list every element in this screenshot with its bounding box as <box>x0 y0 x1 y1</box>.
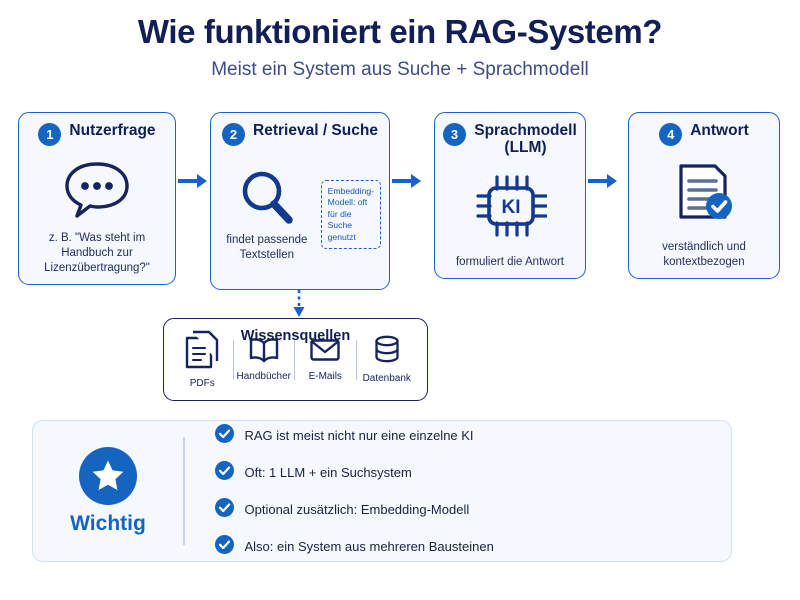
checklist-text: Also: ein System aus mehreren Bausteinen <box>245 539 494 554</box>
embedding-model-note: Embedding-Modell: oft für die Suche genu… <box>321 180 381 250</box>
magnifier-icon <box>236 167 298 229</box>
flow-step-sprachmodell[interactable]: 3 Sprachmodell (LLM) KI formuliert die <box>434 112 586 279</box>
documents-stack-icon <box>184 330 220 375</box>
source-label: Datenbank <box>363 373 411 384</box>
retrieval-icon-block: findet passende Textstellen <box>219 167 315 263</box>
step-description: formuliert die Antwort <box>456 255 564 270</box>
database-icon <box>372 335 402 370</box>
checklist-text: Optional zusätzlich: Embedding-Modell <box>245 502 470 517</box>
check-circle-icon <box>215 535 234 559</box>
page-header: Wie funktioniert ein RAG-System? Meist e… <box>0 0 800 81</box>
check-circle-icon <box>215 424 234 448</box>
step-title: Nutzerfrage <box>69 122 155 139</box>
step-number-badge: 1 <box>38 123 61 146</box>
step-description: z. B. "Was steht im Handbuch zur Lizenzü… <box>27 231 167 276</box>
step-description: verständlich und kontextbezogen <box>637 240 771 270</box>
flow-arrow-1 <box>178 172 208 195</box>
speech-bubble-icon <box>27 146 167 231</box>
checklist-item: RAG ist meist nicht nur eine einzelne KI <box>215 424 732 448</box>
step-number-badge: 4 <box>659 123 682 146</box>
chip-icon-label: KI <box>502 197 521 218</box>
step-header: 4 Antwort <box>637 122 771 146</box>
step-body: findet passende Textstellen Embedding-Mo… <box>219 148 381 281</box>
step-number-badge: 2 <box>222 123 245 146</box>
checklist-text: Oft: 1 LLM + ein Suchsystem <box>245 465 412 480</box>
flow-step-antwort[interactable]: 4 Antwort verständlich und kontextbezoge… <box>628 112 780 279</box>
source-item-datenbank[interactable]: Datenbank <box>357 325 418 394</box>
checklist-text: RAG ist meist nicht nur eine einzelne KI <box>245 428 474 443</box>
source-label: Handbücher <box>237 371 291 382</box>
important-badge-block: Wichtig <box>33 447 183 536</box>
step-header: 1 Nutzerfrage <box>27 122 167 146</box>
important-checklist: RAG ist meist nicht nur eine einzelne KI… <box>185 424 732 559</box>
checklist-item: Oft: 1 LLM + ein Suchsystem <box>215 461 732 485</box>
source-item-pdfs[interactable]: PDFs <box>172 325 233 394</box>
step-title: Retrieval / Suche <box>253 122 378 139</box>
flow-step-retrieval[interactable]: 2 Retrieval / Suche findet passende Text… <box>210 112 390 290</box>
check-circle-icon <box>215 461 234 485</box>
source-item-emails[interactable]: E-Mails <box>295 325 356 394</box>
step-header: 3 Sprachmodell (LLM) <box>443 122 577 157</box>
step-header: 2 Retrieval / Suche <box>219 122 381 146</box>
flow-arrow-3 <box>588 172 618 195</box>
source-item-handbuecher[interactable]: Handbücher <box>234 325 295 394</box>
step-title: Sprachmodell (LLM) <box>474 122 577 157</box>
source-label: PDFs <box>190 378 215 389</box>
checklist-item: Optional zusätzlich: Embedding-Modell <box>215 498 732 522</box>
knowledge-sources-box[interactable]: Wissensquellen PDFs Handbücher <box>163 318 428 401</box>
envelope-icon <box>309 337 341 368</box>
source-label: E-Mails <box>309 371 342 382</box>
checklist-item: Also: ein System aus mehreren Bausteinen <box>215 535 732 559</box>
important-label: Wichtig <box>70 512 146 536</box>
step-description: findet passende Textstellen <box>219 233 315 263</box>
important-panel: Wichtig RAG ist meist nicht nur eine ein… <box>32 420 732 562</box>
step-number-badge: 3 <box>443 123 466 146</box>
check-circle-icon <box>215 498 234 522</box>
flow-step-nutzerfrage[interactable]: 1 Nutzerfrage z. B. "Was steht im Handbu… <box>18 112 176 285</box>
document-check-icon <box>637 146 771 240</box>
process-flow: 1 Nutzerfrage z. B. "Was steht im Handbu… <box>0 112 800 297</box>
flow-arrow-2 <box>392 172 422 195</box>
page-title: Wie funktioniert ein RAG-System? <box>0 14 800 50</box>
step-title: Antwort <box>690 122 749 139</box>
chip-icon: KI <box>443 157 577 255</box>
page-subtitle: Meist ein System aus Suche + Sprachmodel… <box>0 59 800 81</box>
star-icon <box>79 447 137 505</box>
book-icon <box>248 337 280 368</box>
